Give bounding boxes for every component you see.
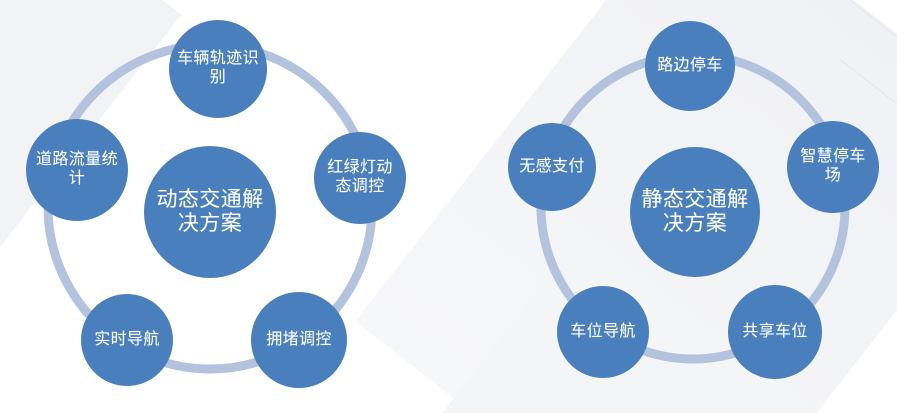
dynamic-traffic-satellite-1-label: 车辆轨迹识别 xyxy=(169,50,267,87)
static-traffic-center-node-label: 静态交通解决方案 xyxy=(630,188,760,237)
dynamic-traffic-center-node[interactable]: 动态交通解决方案 xyxy=(144,146,276,278)
static-traffic-satellite-3-label: 共享车位 xyxy=(736,323,814,342)
diagram-canvas: 动态交通解决方案车辆轨迹识别红绿灯动态调控拥堵调控实时导航道路流量统计 静态交通… xyxy=(0,0,897,413)
static-traffic-satellite-3[interactable]: 共享车位 xyxy=(728,285,822,379)
dynamic-traffic-satellite-5[interactable]: 道路流量统计 xyxy=(26,119,128,221)
static-traffic-satellite-1[interactable]: 路边停车 xyxy=(645,21,735,111)
static-traffic-satellite-2[interactable]: 智慧停车场 xyxy=(787,121,879,213)
static-traffic-satellite-5-label: 无感支付 xyxy=(513,158,591,177)
dynamic-traffic-center-node-label: 动态交通解决方案 xyxy=(144,188,276,237)
dynamic-traffic-diagram: 动态交通解决方案车辆轨迹识别红绿灯动态调控拥堵调控实时导航道路流量统计 xyxy=(0,0,450,413)
static-traffic-center-node[interactable]: 静态交通解决方案 xyxy=(630,147,760,277)
dynamic-traffic-satellite-4-label: 实时导航 xyxy=(88,331,166,350)
dynamic-traffic-satellite-4[interactable]: 实时导航 xyxy=(81,294,173,386)
static-traffic-satellite-5[interactable]: 无感支付 xyxy=(508,123,596,211)
dynamic-traffic-satellite-3-label: 拥堵调控 xyxy=(260,331,338,350)
dynamic-traffic-satellite-2[interactable]: 红绿灯动态调控 xyxy=(314,132,406,224)
static-traffic-diagram: 静态交通解决方案路边停车智慧停车场共享车位车位导航无感支付 xyxy=(450,0,897,413)
static-traffic-satellite-4-label: 车位导航 xyxy=(564,323,642,342)
dynamic-traffic-satellite-3[interactable]: 拥堵调控 xyxy=(251,292,347,388)
static-traffic-satellite-2-label: 智慧停车场 xyxy=(787,148,879,185)
static-traffic-satellite-1-label: 路边停车 xyxy=(651,57,729,76)
static-traffic-satellite-4[interactable]: 车位导航 xyxy=(557,286,649,378)
dynamic-traffic-satellite-5-label: 道路流量统计 xyxy=(26,151,128,188)
dynamic-traffic-satellite-2-label: 红绿灯动态调控 xyxy=(314,159,406,196)
dynamic-traffic-satellite-1[interactable]: 车辆轨迹识别 xyxy=(169,20,267,118)
